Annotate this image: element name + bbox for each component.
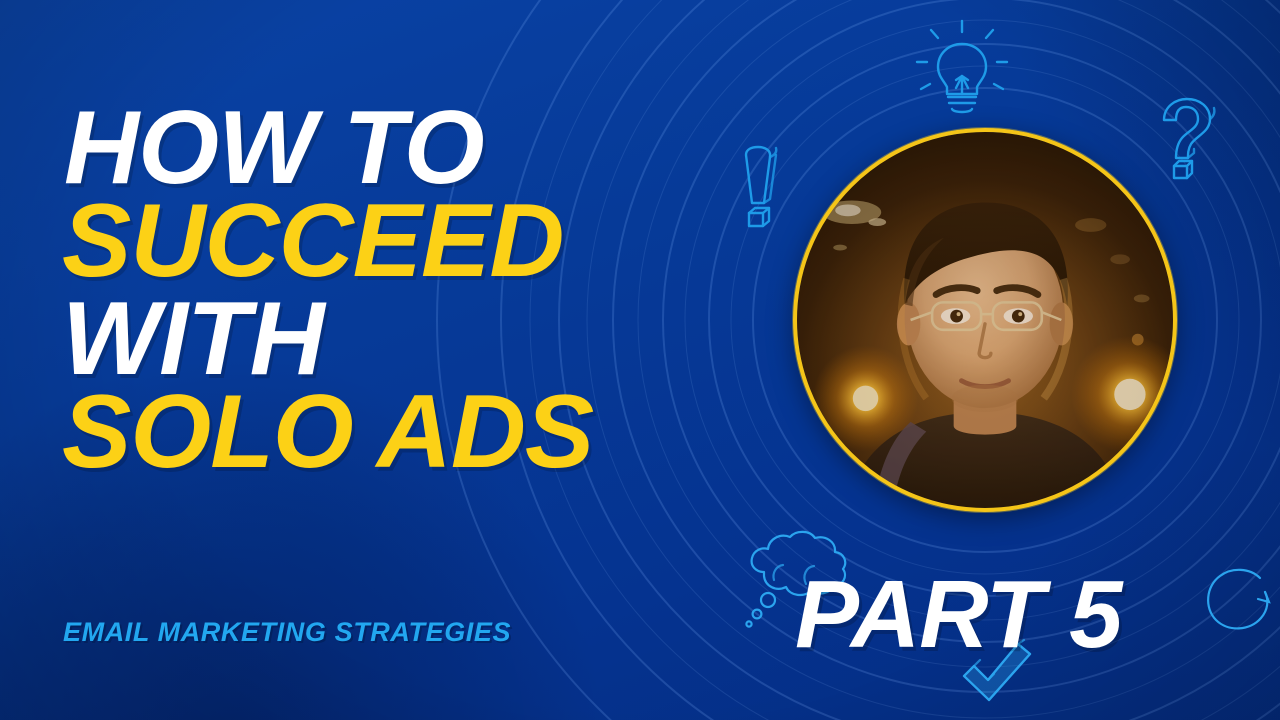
subtitle: EMAIL MARKETING STRATEGIES	[63, 617, 511, 648]
headline-line-2: SUCCEED	[62, 193, 762, 290]
avatar-gold-ring	[793, 128, 1177, 512]
video-thumbnail: HOW TO SUCCEED WITH SOLO ADS EMAIL MARKE…	[0, 0, 1280, 720]
part-badge: PART 5	[795, 560, 1122, 670]
headline-line-4: SOLO ADS	[62, 384, 762, 481]
page-title: HOW TO SUCCEED WITH SOLO ADS	[62, 100, 762, 481]
avatar	[793, 128, 1177, 512]
